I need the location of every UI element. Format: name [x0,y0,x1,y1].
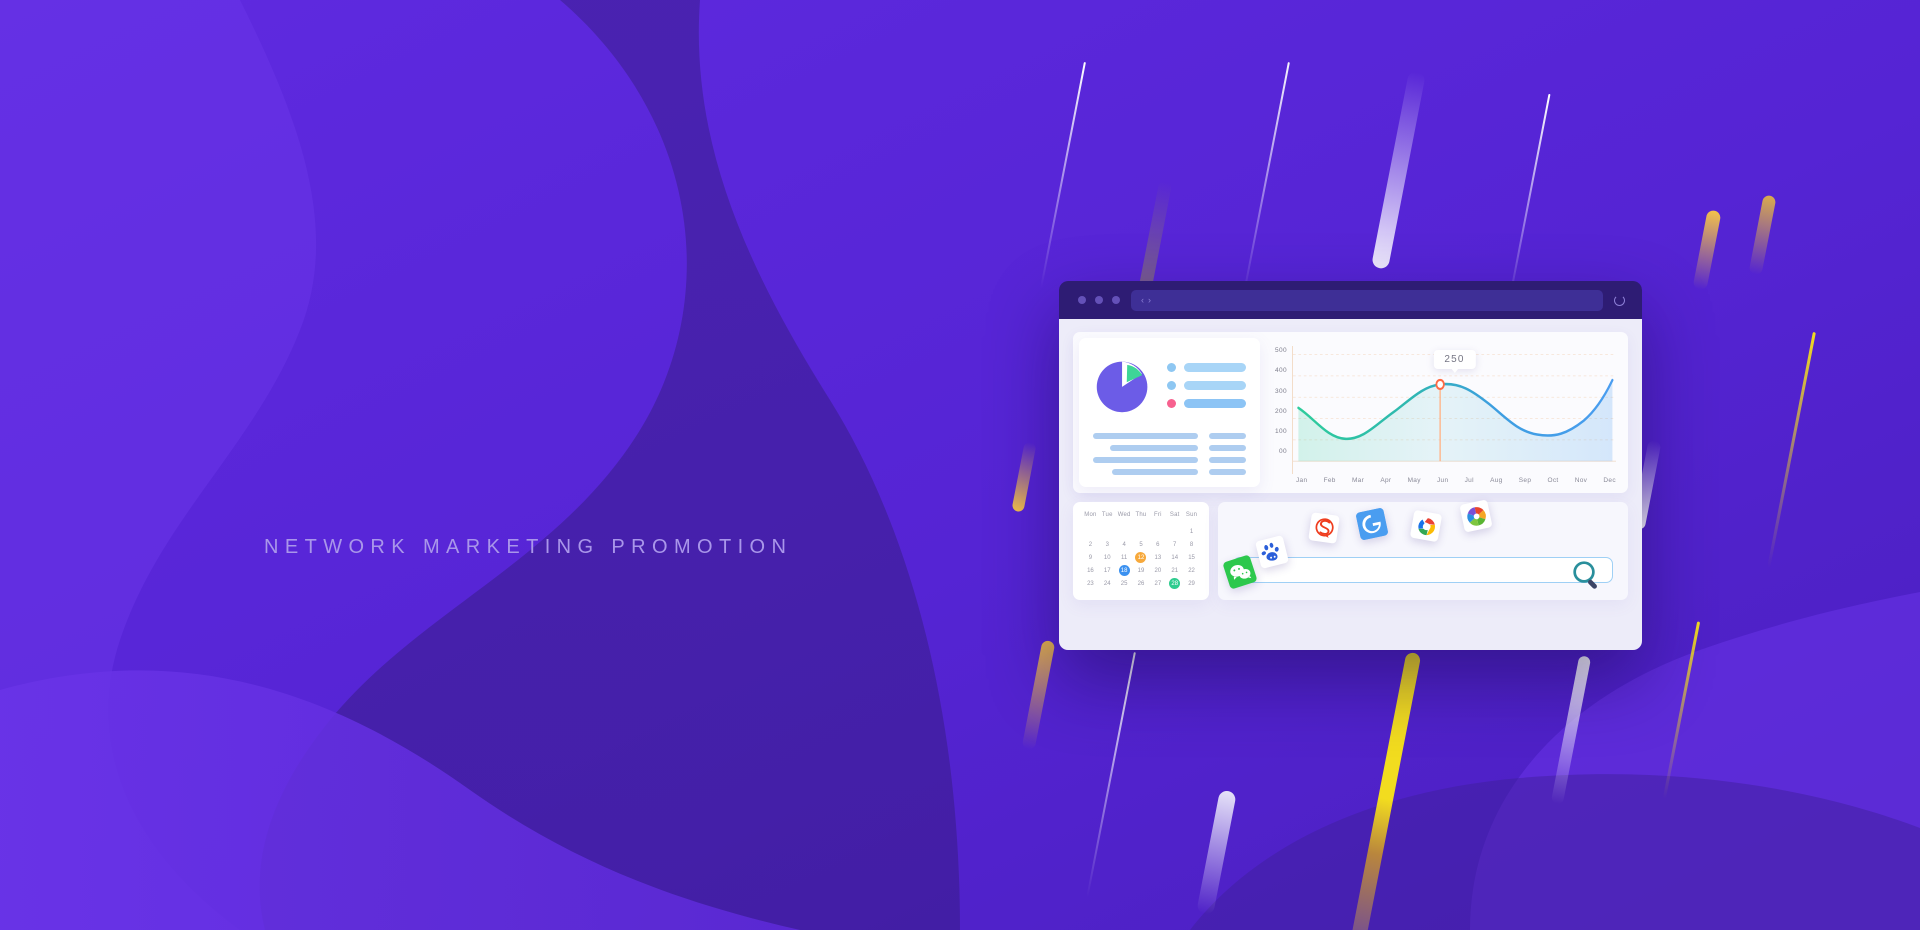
text-line [1110,445,1198,451]
calendar-day-label: 11 [1119,552,1130,563]
reload-icon[interactable] [1614,295,1625,306]
calendar-day-label: 13 [1152,552,1163,563]
calendar-day-label: 6 [1152,539,1163,550]
calendar-day[interactable]: 22 [1183,564,1200,577]
text-lines-left [1093,433,1198,475]
window-controls[interactable] [1078,296,1120,304]
calendar-day-label: 14 [1169,552,1180,563]
x-tick: Dec [1603,477,1615,484]
calendar-day[interactable]: 14 [1166,551,1183,564]
address-bar[interactable]: ‹ › [1131,290,1603,311]
y-tick: 400 [1275,368,1287,375]
calendar-day[interactable]: 28 [1166,577,1183,590]
calendar-weekday: Mon [1082,512,1099,525]
window-dot-minimize[interactable] [1095,296,1103,304]
pie-legend [1167,363,1246,408]
calendar-weekday: Wed [1116,512,1133,525]
y-tick: 200 [1275,409,1287,416]
legend-bar [1184,381,1246,390]
calendar-day-label: 20 [1152,565,1163,576]
text-line [1209,445,1246,451]
calendar-day[interactable]: 20 [1149,564,1166,577]
legend-item [1167,381,1246,390]
x-tick: Jun [1437,477,1448,484]
calendar-day-label: 3 [1102,539,1113,550]
nav-forward-icon[interactable]: › [1148,296,1151,305]
calendar-day[interactable]: 6 [1149,538,1166,551]
pie-chart-row [1093,354,1246,416]
calendar-day[interactable]: 17 [1099,564,1116,577]
calendar-day-label: 9 [1085,552,1096,563]
x-tick: Oct [1547,477,1558,484]
calendar-day-label: 7 [1169,539,1180,550]
nav-back-icon[interactable]: ‹ [1141,296,1144,305]
calendar-day[interactable]: 11 [1116,551,1133,564]
x-tick: May [1408,477,1421,484]
text-line [1112,469,1198,475]
calendar-day-label: 17 [1102,565,1113,576]
calendar-blank [1133,525,1150,538]
legend-item [1167,363,1246,372]
browser-titlebar: ‹ › [1059,281,1642,319]
calendar-day[interactable]: 25 [1116,577,1133,590]
pie-chart [1093,355,1153,415]
pie-chart-svg [1093,355,1153,415]
calendar-day-label: 12 [1135,552,1146,563]
calendar-day[interactable]: 27 [1149,577,1166,590]
calendar-day-label: 25 [1119,578,1130,589]
page-title: NETWORK MARKETING PROMOTION [264,536,792,559]
calendar-day[interactable]: 18 [1116,564,1133,577]
window-dot-close[interactable] [1078,296,1086,304]
calendar-day-label: 27 [1152,578,1163,589]
calendar-day[interactable]: 13 [1149,551,1166,564]
calendar-weekday: Fri [1149,512,1166,525]
x-tick: Sep [1519,477,1531,484]
calendar-day[interactable]: 29 [1183,577,1200,590]
browser-window: ‹ › [1059,281,1642,650]
calendar-weekday: Tue [1099,512,1116,525]
legend-dot [1167,381,1176,390]
x-tick: Aug [1490,477,1502,484]
chart-y-axis: 500 400 300 200 100 00 [1266,346,1292,474]
search-panel [1218,502,1628,600]
pie-chart-panel [1079,338,1260,487]
calendar-day-label: 4 [1119,539,1130,550]
calendar-day-grid[interactable]: 1234567891011121314151617181920212223242… [1082,525,1200,590]
text-line [1209,469,1246,475]
calendar-day[interactable]: 19 [1133,564,1150,577]
calendar-day-label: 1 [1186,526,1197,537]
legend-dot [1167,399,1176,408]
calendar-day[interactable]: 10 [1099,551,1116,564]
calendar-day-label: 19 [1135,565,1146,576]
legend-dot [1167,363,1176,372]
calendar-day[interactable]: 7 [1166,538,1183,551]
placeholder-text-lines [1093,433,1246,475]
text-line [1093,433,1198,439]
search-input[interactable] [1233,557,1613,583]
calendar-day-label: 24 [1102,578,1113,589]
calendar-day[interactable]: 4 [1116,538,1133,551]
qihoo-icon[interactable] [1459,499,1492,532]
calendar-day[interactable]: 1 [1183,525,1200,538]
calendar-blank [1166,525,1183,538]
calendar-day-label: 16 [1085,565,1096,576]
dashboard-bottom-row: MonTueWedThuFriSatSun 123456789101112131… [1073,502,1628,600]
calendar-day-label: 23 [1085,578,1096,589]
x-tick: Nov [1575,477,1587,484]
calendar-blank [1082,525,1099,538]
x-tick: Jan [1296,477,1307,484]
calendar-weekday: Sun [1183,512,1200,525]
calendar-day-label: 21 [1169,565,1180,576]
line-chart-body: 500 400 300 200 100 00 [1266,346,1616,474]
calendar-day[interactable]: 23 [1082,577,1099,590]
calendar-day[interactable]: 5 [1133,538,1150,551]
search-icon[interactable] [1570,558,1604,592]
calendar-day[interactable]: 16 [1082,564,1099,577]
calendar-day[interactable]: 15 [1183,551,1200,564]
calendar-blank [1116,525,1133,538]
x-tick: Apr [1380,477,1391,484]
text-line [1209,433,1246,439]
calendar-day[interactable]: 26 [1133,577,1150,590]
calendar-weekday: Sat [1166,512,1183,525]
calendar-day[interactable]: 9 [1082,551,1099,564]
legend-bar [1184,399,1246,408]
legend-item [1167,399,1246,408]
calendar-day-label: 15 [1186,552,1197,563]
calendar-day[interactable]: 2 [1082,538,1099,551]
google-icon[interactable] [1355,507,1388,540]
chart-x-axis: Jan Feb Mar Apr May Jun Jul Aug Sep Oct … [1292,477,1616,484]
calendar-day-label: 5 [1135,539,1146,550]
line-chart-panel: 500 400 300 200 100 00 [1264,338,1620,487]
calendar-weekday: Thu [1133,512,1150,525]
dashboard-top-card: 500 400 300 200 100 00 [1073,332,1628,493]
calendar-day-label: 18 [1119,565,1130,576]
calendar-day-label: 26 [1135,578,1146,589]
y-tick: 300 [1275,389,1287,396]
sogou-icon[interactable] [1308,512,1340,544]
calendar-blank [1099,525,1116,538]
chrome-icon[interactable] [1410,510,1442,542]
calendar-day[interactable]: 24 [1099,577,1116,590]
calendar-widget[interactable]: MonTueWedThuFriSatSun 123456789101112131… [1073,502,1209,600]
x-tick: Mar [1352,477,1364,484]
calendar-weekday-row: MonTueWedThuFriSatSun [1082,512,1200,525]
text-line [1209,457,1246,463]
calendar-blank [1149,525,1166,538]
x-tick: Feb [1324,477,1336,484]
text-line [1093,457,1198,463]
calendar-day[interactable]: 21 [1166,564,1183,577]
calendar-day-label: 2 [1085,539,1096,550]
y-tick: 100 [1275,429,1287,436]
chart-tooltip: 250 [1433,350,1475,369]
calendar-day[interactable]: 3 [1099,538,1116,551]
calendar-day[interactable]: 8 [1183,538,1200,551]
calendar-day-label: 10 [1102,552,1113,563]
window-dot-maximize[interactable] [1112,296,1120,304]
calendar-day-label: 28 [1169,578,1180,589]
calendar-day[interactable]: 12 [1133,551,1150,564]
y-tick: 00 [1279,449,1287,456]
x-tick: Jul [1465,477,1474,484]
text-lines-right [1209,433,1246,475]
calendar-day-label: 22 [1186,565,1197,576]
chart-plot-area: 250 [1292,346,1616,474]
y-tick: 500 [1275,348,1287,355]
legend-bar [1184,363,1246,372]
calendar-day-label: 29 [1186,578,1197,589]
calendar-day-label: 8 [1186,539,1197,550]
browser-viewport: 500 400 300 200 100 00 [1059,319,1642,650]
